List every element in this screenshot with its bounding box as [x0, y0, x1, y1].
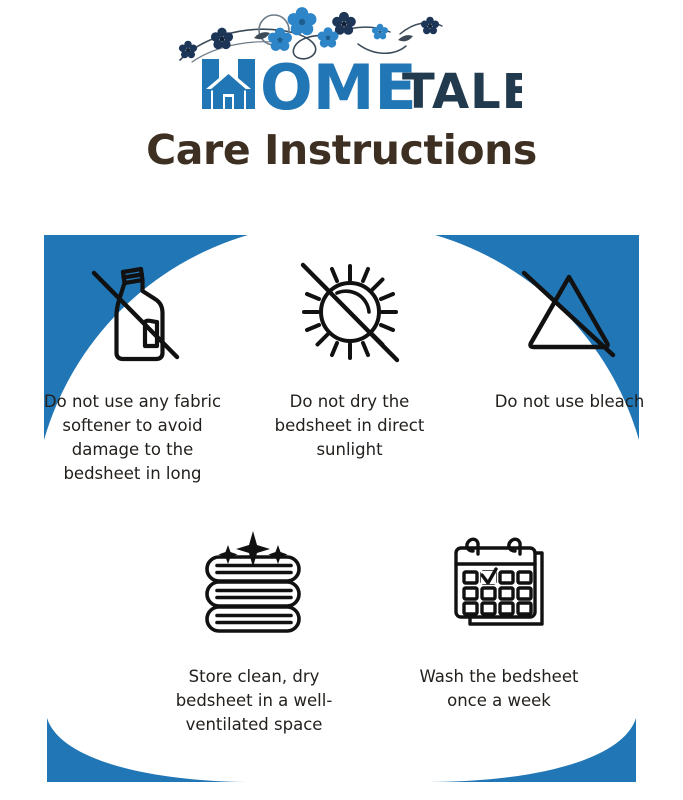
logo-wordmark: OME TALES	[202, 51, 522, 114]
no-direct-sunlight-icon	[289, 250, 411, 370]
folded-towels-icon	[195, 525, 313, 645]
page-title: Care Instructions	[0, 126, 683, 174]
care-instructions-page: OME TALES Care Instructions	[0, 0, 683, 800]
sparkle-icon	[219, 531, 288, 567]
instructions-row-bottom: Store clean, dry bedsheet in a well-vent…	[0, 525, 683, 737]
instructions-row-top: Do not use any fabric softener to avoid …	[0, 250, 683, 486]
instruction-caption: Do not use any fabric softener to avoid …	[35, 390, 231, 486]
no-bleach-icon	[511, 250, 629, 370]
instruction-card: Wash the bedsheet once a week	[397, 525, 602, 713]
svg-text:OME: OME	[260, 51, 417, 114]
instruction-caption: Do not use bleach	[490, 390, 650, 414]
svg-text:TALES: TALES	[402, 64, 522, 114]
instruction-card: Store clean, dry bedsheet in a well-vent…	[152, 525, 357, 737]
instruction-card: Do not dry the bedsheet in direct sunlig…	[255, 250, 445, 462]
instruction-caption: Do not dry the bedsheet in direct sunlig…	[264, 390, 436, 462]
instruction-caption: Store clean, dry bedsheet in a well-vent…	[163, 665, 345, 737]
house-h-icon	[202, 59, 255, 109]
no-fabric-softener-icon	[73, 250, 193, 370]
instruction-card: Do not use any fabric softener to avoid …	[29, 250, 237, 486]
calendar-icon	[443, 525, 555, 645]
brand-logo: OME TALES	[0, 4, 683, 114]
instruction-card: Do not use bleach	[475, 250, 665, 414]
prohibition-slash	[524, 273, 613, 355]
instruction-caption: Wash the bedsheet once a week	[413, 665, 585, 713]
